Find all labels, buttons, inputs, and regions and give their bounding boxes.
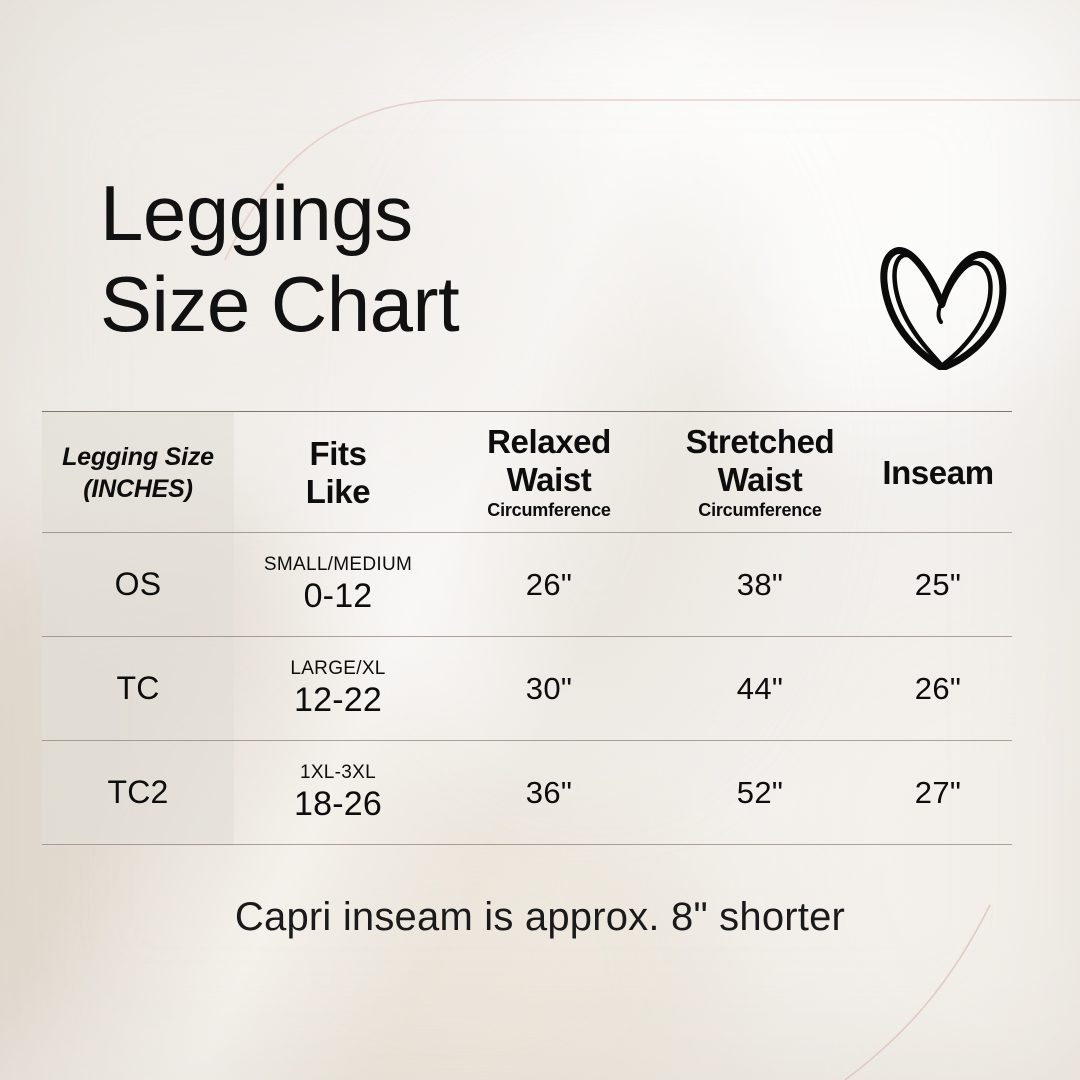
- cell-stretched-waist: 44": [656, 671, 864, 707]
- value-fits-like-range: 12-22: [294, 681, 382, 720]
- value-size: TC: [116, 670, 159, 707]
- value-fits-like-label: LARGE/XL: [290, 658, 385, 680]
- table-row: TC2 1XL-3XL 18-26 36" 52" 27": [42, 741, 1012, 844]
- header-cell-fits-like: Fits Like: [234, 435, 442, 510]
- cell-relaxed-waist: 30": [442, 671, 656, 707]
- value-relaxed-waist: 26": [526, 567, 572, 603]
- page-title: Leggings Size Chart: [100, 168, 459, 351]
- value-size: OS: [115, 566, 162, 603]
- value-inseam: 25": [915, 567, 961, 603]
- header-cell-size: Legging Size (INCHES): [42, 441, 234, 505]
- value-fits-like-label: 1XL-3XL: [300, 762, 376, 784]
- cell-fits-like: SMALL/MEDIUM 0-12: [234, 554, 442, 616]
- value-stretched-waist: 38": [737, 567, 783, 603]
- cell-relaxed-waist: 36": [442, 775, 656, 811]
- value-inseam: 27": [915, 775, 961, 811]
- value-relaxed-waist: 36": [526, 775, 572, 811]
- cell-size: TC2: [42, 774, 234, 811]
- header-label-size: Legging Size (INCHES): [62, 441, 214, 505]
- header-label-stretched-waist: Stretched Waist: [686, 423, 835, 498]
- table-row: TC LARGE/XL 12-22 30" 44" 26": [42, 637, 1012, 740]
- value-inseam: 26": [915, 671, 961, 707]
- value-fits-like-range: 0-12: [304, 577, 373, 616]
- cell-size: OS: [42, 566, 234, 603]
- header-label-inseam: Inseam: [882, 454, 993, 491]
- cell-inseam: 25": [864, 567, 1012, 603]
- value-fits-like-label: SMALL/MEDIUM: [264, 554, 412, 576]
- value-size: TC2: [107, 774, 168, 811]
- capri-inseam-note: Capri inseam is approx. 8" shorter: [0, 895, 1080, 940]
- header-cell-inseam: Inseam: [864, 454, 1012, 491]
- header-sublabel-relaxed-circumference: Circumference: [487, 500, 610, 522]
- cell-stretched-waist: 38": [656, 567, 864, 603]
- value-stretched-waist: 44": [737, 671, 783, 707]
- header-label-fits-like: Fits Like: [306, 435, 370, 510]
- cell-inseam: 27": [864, 775, 1012, 811]
- value-stretched-waist: 52": [737, 775, 783, 811]
- cell-size: TC: [42, 670, 234, 707]
- table-rule-bottom: [42, 844, 1012, 845]
- cell-fits-like: 1XL-3XL 18-26: [234, 762, 442, 824]
- cell-relaxed-waist: 26": [442, 567, 656, 603]
- value-relaxed-waist: 30": [526, 671, 572, 707]
- cell-inseam: 26": [864, 671, 1012, 707]
- header-cell-relaxed-waist: Relaxed Waist Circumference: [442, 423, 656, 521]
- cell-stretched-waist: 52": [656, 775, 864, 811]
- value-fits-like-range: 18-26: [294, 785, 382, 824]
- size-table: Legging Size (INCHES) Fits Like Relaxed …: [42, 411, 1012, 847]
- header-cell-stretched-waist: Stretched Waist Circumference: [656, 423, 864, 521]
- table-header-row: Legging Size (INCHES) Fits Like Relaxed …: [42, 412, 1012, 533]
- size-chart-page: Leggings Size Chart Legging Size (INCHES…: [0, 0, 1080, 1080]
- heart-doodle-icon: [868, 226, 1020, 370]
- header-sublabel-stretched-circumference: Circumference: [698, 500, 821, 522]
- table-row: OS SMALL/MEDIUM 0-12 26" 38" 25": [42, 533, 1012, 636]
- cell-fits-like: LARGE/XL 12-22: [234, 658, 442, 720]
- header-label-relaxed-waist: Relaxed Waist: [487, 423, 611, 498]
